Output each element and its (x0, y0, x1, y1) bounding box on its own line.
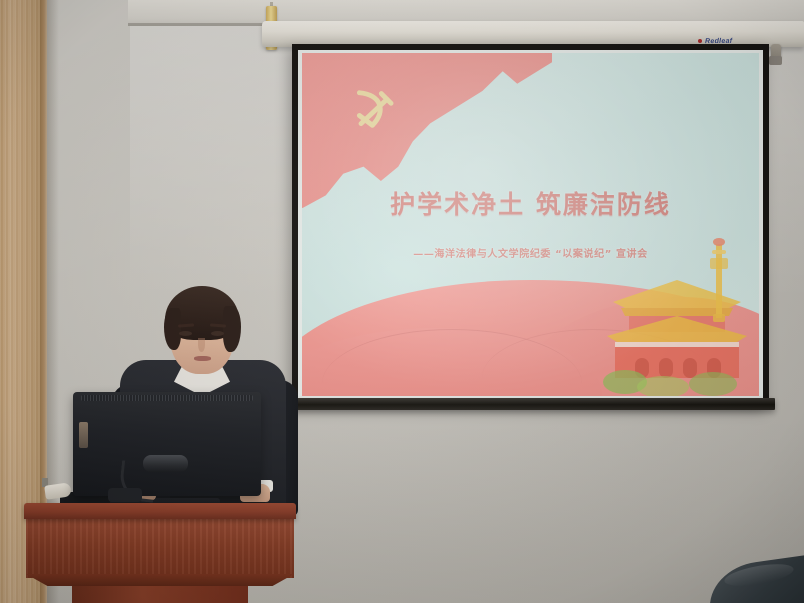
slide-title: 护学术净土 筑廉洁防线 (302, 185, 759, 221)
monitor-vent-grille (81, 395, 253, 401)
microphone-head[interactable] (143, 455, 188, 472)
podium-front-panel (26, 518, 294, 578)
podium-bevel (26, 574, 294, 586)
desktop-monitor[interactable] (73, 392, 261, 496)
brand-logo-dot-icon (698, 39, 702, 43)
projected-slide: 护学术净土 筑廉洁防线 ——海洋法律与人文学院纪委 “以案说纪” 宣讲会 (302, 53, 759, 396)
photo-scene: Redleaf (0, 0, 804, 603)
presenter-eye-right (211, 331, 224, 336)
presenter-hair-side-left (164, 308, 181, 350)
monitor-port-badge (79, 422, 88, 448)
hammer-and-sickle-icon (348, 83, 400, 135)
screen-mount-nut-right (769, 56, 782, 65)
presenter-nose (198, 338, 205, 352)
tiananmen-gate-icon (601, 256, 753, 396)
projector-screen-weight-bar (288, 398, 775, 410)
microphone-base (108, 488, 142, 502)
presenter-hair-side-right (223, 306, 241, 352)
presenter-eye-left (179, 331, 192, 336)
slide-subtitle: ——海洋法律与人文学院纪委 “以案说纪” 宣讲会 (302, 245, 759, 260)
huabiao-column-icon (709, 228, 729, 326)
podium-column (72, 584, 248, 603)
podium-top-surface (24, 503, 296, 519)
presenter-mouth (194, 356, 211, 361)
